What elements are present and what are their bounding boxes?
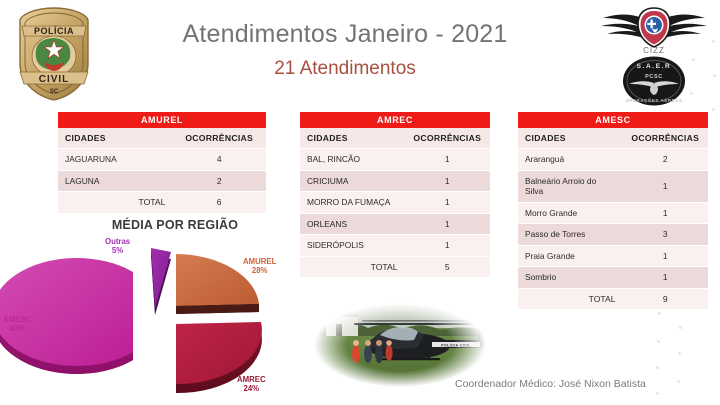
cell-count: 2: [172, 170, 266, 192]
cell-count: 2: [623, 149, 709, 171]
cell-city: Sombrio: [518, 267, 623, 289]
pie-label-amurel: AMUREL 28%: [243, 258, 276, 276]
svg-text:PCSC: PCSC: [645, 74, 663, 80]
table-amesc: AMESC CIDADES OCORRÊNCIAS Araranguá 2 Ba…: [518, 112, 708, 310]
cizz-logo-label: CIZZ: [595, 46, 713, 55]
total-label: TOTAL: [518, 288, 623, 310]
total-value: 5: [405, 256, 491, 278]
svg-text:SC: SC: [50, 89, 59, 95]
saer-pcsc-badge-icon: S.A.E.R PCSC OPERAÇÕES AÉREAS: [622, 56, 686, 106]
column-header-cidades: CIDADES: [300, 128, 405, 149]
table-row: Praia Grande 1: [518, 245, 708, 267]
column-header-ocorrencias: OCORRÊNCIAS: [172, 128, 266, 149]
column-header-cidades: CIDADES: [58, 128, 172, 149]
table-row: Passo de Torres 3: [518, 224, 708, 246]
total-label: TOTAL: [300, 256, 405, 278]
table-row: Morro Grande 1: [518, 202, 708, 224]
cell-city: BAL, RINCÃO: [300, 149, 405, 171]
cell-count: 4: [172, 149, 266, 171]
total-label: TOTAL: [58, 192, 172, 214]
cell-city: Morro Grande: [518, 202, 623, 224]
table-row: Balneário Arroio do Silva 1: [518, 170, 708, 202]
cell-city: Balneário Arroio do Silva: [518, 170, 623, 202]
column-header-ocorrencias: OCORRÊNCIAS: [405, 128, 491, 149]
cell-count: 1: [405, 213, 491, 235]
table-row: BAL, RINCÃO 1: [300, 149, 490, 171]
cell-count: 1: [623, 245, 709, 267]
cell-city: LAGUNA: [58, 170, 172, 192]
table-row: ORLEANS 1: [300, 213, 490, 235]
table-amurel: AMUREL CIDADES OCORRÊNCIAS JAGUARUNA 4 L…: [58, 112, 266, 214]
table-row: JAGUARUNA 4: [58, 149, 266, 171]
cell-city: Passo de Torres: [518, 224, 623, 246]
chart-title: MÉDIA POR REGIÃO: [60, 218, 290, 232]
table-row: LAGUNA 2: [58, 170, 266, 192]
column-header-cidades: CIDADES: [518, 128, 623, 149]
total-value: 6: [172, 192, 266, 214]
cell-city: SIDERÓPOLIS: [300, 235, 405, 257]
pie-label-amrec: AMREC 24%: [237, 376, 266, 394]
table-total-row: TOTAL 5: [300, 256, 490, 278]
page-title: Atendimentos Janeiro - 2021: [120, 20, 570, 49]
svg-text:POLÍCIA CIVIL: POLÍCIA CIVIL: [441, 342, 471, 347]
cell-city: JAGUARUNA: [58, 149, 172, 171]
cell-city: MORRO DA FUMAÇA: [300, 192, 405, 214]
pie-label-amesc: AMESC 43%: [3, 316, 31, 334]
cell-city: ORLEANS: [300, 213, 405, 235]
policia-civil-sc-badge-icon: POLÍCIA CIVIL SC: [14, 6, 94, 102]
svg-text:CIVIL: CIVIL: [39, 74, 70, 85]
cell-count: 3: [623, 224, 709, 246]
cell-city: CRICIUMA: [300, 170, 405, 192]
cell-city: Praia Grande: [518, 245, 623, 267]
table-amurel-caption: AMUREL: [58, 112, 266, 128]
cell-count: 1: [405, 170, 491, 192]
cell-count: 1: [623, 267, 709, 289]
table-total-row: TOTAL 9: [518, 288, 708, 310]
table-row: SIDERÓPOLIS 1: [300, 235, 490, 257]
svg-text:POLÍCIA: POLÍCIA: [34, 26, 74, 36]
table-total-row: TOTAL 6: [58, 192, 266, 214]
footer-credit: Coordenador Médico: José Nixon Batista: [455, 378, 646, 390]
table-row: Sombrio 1: [518, 267, 708, 289]
police-helicopter-photo: POLÍCIA CIVIL: [310, 300, 490, 390]
pie-label-outras: Outras 5%: [105, 238, 130, 256]
slide-canvas: POLÍCIA CIVIL SC Atendimentos Janeiro - …: [0, 0, 720, 405]
cell-count: 1: [623, 202, 709, 224]
cell-count: 1: [623, 170, 709, 202]
page-subtitle: 21 Atendimentos: [120, 58, 570, 80]
cell-count: 1: [405, 149, 491, 171]
total-value: 9: [623, 288, 709, 310]
cell-count: 1: [405, 235, 491, 257]
cell-city: Araranguá: [518, 149, 623, 171]
table-amrec: AMREC CIDADES OCORRÊNCIAS BAL, RINCÃO 1 …: [300, 112, 490, 278]
table-header-row: CIDADES OCORRÊNCIAS: [300, 128, 490, 149]
cell-count: 1: [405, 192, 491, 214]
svg-text:S.A.E.R: S.A.E.R: [637, 63, 672, 70]
table-row: CRICIUMA 1: [300, 170, 490, 192]
table-row: Araranguá 2: [518, 149, 708, 171]
table-header-row: CIDADES OCORRÊNCIAS: [58, 128, 266, 149]
column-header-ocorrencias: OCORRÊNCIAS: [623, 128, 709, 149]
table-row: MORRO DA FUMAÇA 1: [300, 192, 490, 214]
pie-slice-outras: [151, 248, 171, 315]
table-header-row: CIDADES OCORRÊNCIAS: [518, 128, 708, 149]
table-amrec-caption: AMREC: [300, 112, 490, 128]
svg-text:OPERAÇÕES AÉREAS: OPERAÇÕES AÉREAS: [625, 98, 682, 103]
table-amesc-caption: AMESC: [518, 112, 708, 128]
